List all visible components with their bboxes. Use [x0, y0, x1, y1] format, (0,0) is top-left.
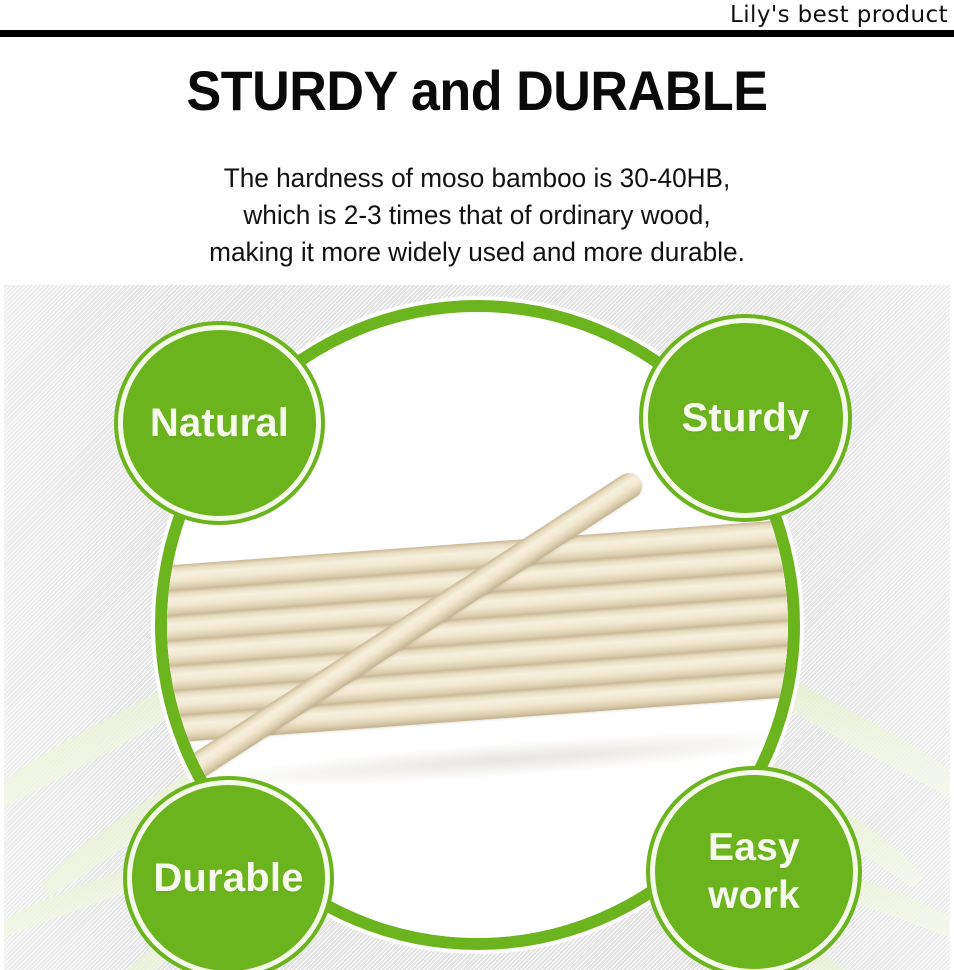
page-title: STURDY and DURABLE	[33, 58, 920, 124]
feature-badge-label: Natural	[150, 402, 289, 444]
feature-badge-label: Sturdy	[682, 397, 810, 439]
feature-badge-label-group: Easy work	[708, 824, 800, 920]
feature-badge-natural: Natural	[118, 325, 321, 521]
description-line-3: making it more widely used and more dura…	[14, 234, 939, 271]
description-line-1: The hardness of moso bamboo is 30-40HB,	[14, 160, 939, 197]
feature-badge-easy-work: Easy work	[650, 770, 858, 970]
brand-row: Lily's best product	[0, 0, 954, 30]
brand-text: Lily's best product	[730, 0, 954, 30]
headline-part-durable: DURABLE	[516, 59, 767, 122]
header-divider-rule	[0, 30, 954, 37]
description-line-2: which is 2-3 times that of ordinary wood…	[14, 197, 939, 234]
headline-part-sturdy: STURDY	[187, 59, 397, 122]
description-text: The hardness of moso bamboo is 30-40HB, …	[14, 160, 939, 271]
product-feature-image: Lily's best product STURDY and DURABLE T…	[0, 0, 954, 970]
feature-badge-label-line-1: Easy	[708, 826, 800, 869]
feature-badge-sturdy: Sturdy	[643, 318, 848, 518]
headline-part-and: and	[411, 59, 502, 122]
feature-badge-label: Durable	[153, 857, 303, 899]
feature-badge-label-line-2: work	[708, 874, 800, 917]
feature-badge-durable: Durable	[127, 780, 330, 970]
